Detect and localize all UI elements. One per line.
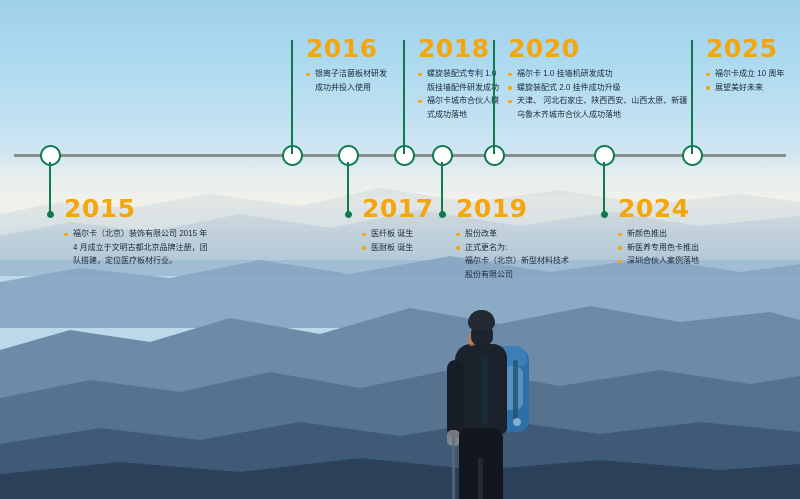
milestone-2018[interactable]: 2018螺旋装配式专利 1.0版挂墙配件研发成功福尔卡城市合伙人模式成功落地	[418, 36, 499, 122]
timeline-stem-dot-2019	[439, 211, 446, 218]
milestone-bullet: 新颜色推出	[618, 228, 699, 241]
milestone-year-label: 2017	[362, 196, 434, 221]
timeline-stem-dot-2024	[601, 211, 608, 218]
milestone-2020[interactable]: 2020福尔卡 1.0 挂墙机研发成功螺旋装配式 2.0 挂件成功升级天津、 河…	[508, 36, 687, 122]
milestone-bullet-list: 螺旋装配式专利 1.0版挂墙配件研发成功福尔卡城市合伙人模式成功落地	[418, 68, 499, 121]
milestone-2024[interactable]: 2024新颜色推出新医养专用色卡推出深圳合伙人案例落地	[618, 196, 699, 269]
milestone-2016[interactable]: 2016银离子洁菌板材研发成功并投入使用	[306, 36, 387, 95]
milestone-bullet: 4 月成立于文明古都北京品牌注册，团	[64, 242, 208, 255]
milestone-bullet: 福尔卡（北京）新型材料技术	[456, 255, 569, 268]
milestone-year-label: 2024	[618, 196, 699, 221]
timeline-stem-2018	[403, 40, 406, 154]
milestone-year-label: 2025	[706, 36, 784, 61]
milestone-bullet-list: 股份改革正式更名为:福尔卡（北京）新型材料技术股份有限公司	[456, 228, 569, 281]
milestone-bullet: 式成功落地	[418, 109, 499, 122]
milestone-2019[interactable]: 2019股份改革正式更名为:福尔卡（北京）新型材料技术股份有限公司	[456, 196, 569, 282]
milestone-bullet: 股份有限公司	[456, 269, 569, 282]
milestone-bullet-list: 福尔卡成立 10 周年展望美好未来	[706, 68, 784, 94]
milestone-bullet: 螺旋装配式 2.0 挂件成功升级	[508, 82, 687, 95]
milestone-bullet-list: 福尔卡 1.0 挂墙机研发成功螺旋装配式 2.0 挂件成功升级天津、 河北石家庄…	[508, 68, 687, 121]
milestone-year-label: 2015	[64, 196, 208, 221]
milestone-year-label: 2019	[456, 196, 569, 221]
milestone-bullet-list: 新颜色推出新医养专用色卡推出深圳合伙人案例落地	[618, 228, 699, 268]
milestone-year-label: 2020	[508, 36, 687, 61]
milestone-2025[interactable]: 2025福尔卡成立 10 周年展望美好未来	[706, 36, 784, 95]
milestone-bullet-list: 医纤板 诞生医耐板 诞生	[362, 228, 434, 254]
milestone-bullet: 银离子洁菌板材研发	[306, 68, 387, 81]
backpack-buckle-2	[513, 418, 521, 426]
milestone-bullet: 新医养专用色卡推出	[618, 242, 699, 255]
milestone-bullet-list: 福尔卡（北京）装饰有限公司 2015 年4 月成立于文明古都北京品牌注册，团队搭…	[64, 228, 208, 268]
timeline-stem-dot-2017	[345, 211, 352, 218]
timeline-stem-2017	[347, 162, 350, 214]
milestone-bullet: 医耐板 诞生	[362, 242, 434, 255]
milestone-bullet: 展望美好未来	[706, 82, 784, 95]
hiker-leg-separation	[478, 458, 483, 499]
milestone-2017[interactable]: 2017医纤板 诞生医耐板 诞生	[362, 196, 434, 255]
backpack-strap-2	[513, 360, 518, 422]
milestone-bullet: 福尔卡成立 10 周年	[706, 68, 784, 81]
milestone-bullet: 福尔卡 1.0 挂墙机研发成功	[508, 68, 687, 81]
milestone-2015[interactable]: 2015福尔卡（北京）装饰有限公司 2015 年4 月成立于文明古都北京品牌注册…	[64, 196, 208, 269]
milestone-bullet: 成功并投入使用	[306, 82, 387, 95]
hiker-figure	[425, 308, 555, 499]
timeline-infographic: 2015福尔卡（北京）装饰有限公司 2015 年4 月成立于文明古都北京品牌注册…	[0, 0, 800, 499]
milestone-bullet: 乌鲁木齐城市合伙人成功落地	[508, 109, 687, 122]
trekking-pole	[452, 438, 455, 499]
timeline-stem-dot-2015	[47, 211, 54, 218]
milestone-bullet-list: 银离子洁菌板材研发成功并投入使用	[306, 68, 387, 94]
milestone-bullet: 股份改革	[456, 228, 569, 241]
timeline-stem-2025	[691, 40, 694, 154]
milestone-year-label: 2016	[306, 36, 387, 61]
milestone-bullet: 正式更名为:	[456, 242, 569, 255]
milestone-bullet: 版挂墙配件研发成功	[418, 82, 499, 95]
milestone-bullet: 螺旋装配式专利 1.0	[418, 68, 499, 81]
milestone-year-label: 2018	[418, 36, 499, 61]
milestone-bullet: 福尔卡城市合伙人模	[418, 95, 499, 108]
milestone-bullet: 天津、 河北石家庄、陕西西安、山西太原、新疆	[508, 95, 687, 108]
milestone-bullet: 深圳合伙人案例落地	[618, 255, 699, 268]
timeline-stem-2019	[441, 162, 444, 214]
timeline-stem-2016	[291, 40, 294, 154]
timeline-stem-2015	[49, 162, 52, 214]
timeline-stem-2024	[603, 162, 606, 214]
hiker-arm	[447, 360, 464, 438]
milestone-bullet: 医纤板 诞生	[362, 228, 434, 241]
hiker-hat	[468, 310, 495, 330]
milestone-bullet: 队搭建，定位医疗板材行业。	[64, 255, 208, 268]
timeline-stem-2020	[493, 40, 496, 154]
backpack-strap-1	[481, 356, 488, 426]
milestone-bullet: 福尔卡（北京）装饰有限公司 2015 年	[64, 228, 208, 241]
